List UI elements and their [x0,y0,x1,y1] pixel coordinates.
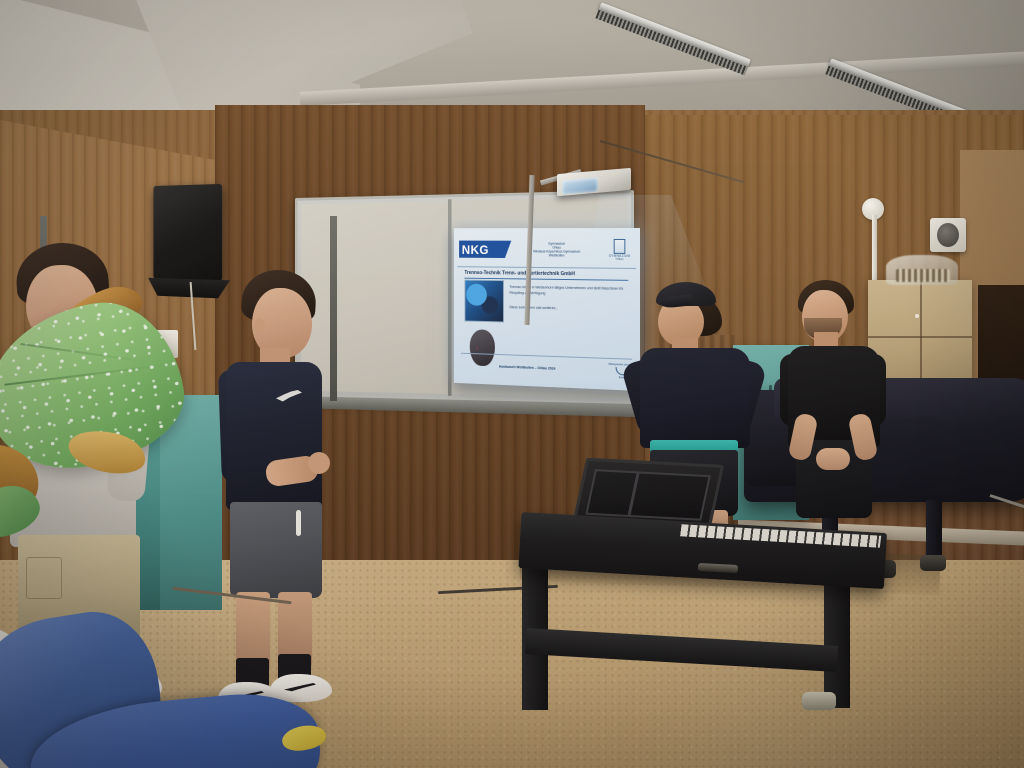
erasmus-line1: Mitbegründet durch [595,362,630,366]
keyboard-stand-caster [802,692,836,710]
person-navy-tshirt [212,270,342,700]
puma-logo-icon [276,390,302,402]
gymnasium-badge: GYMNAZIUM Ohlau [603,239,636,262]
chair-seat-group[interactable] [0,690,320,768]
baseball-cap [656,282,716,306]
person-cap-sweatshirt [640,348,750,448]
digital-piano [508,452,900,702]
white-wall-speaker [930,218,966,252]
speaker-cone-icon [937,223,959,247]
projected-slide: NKG Gymnasium Ohlau Nikolaus-Kopernikus-… [454,228,640,391]
keyboard-stand-brace [525,628,838,672]
shorts-drawstring [296,510,301,536]
keyboard-stand-leg-right [824,578,850,708]
slide-image-recycling [464,280,504,323]
gymnasium-badge-icon [614,239,626,254]
stacked-items [896,269,950,282]
classroom-scene: NKG Gymnasium Ohlau Nikolaus-Kopernikus-… [0,0,1024,768]
person-mid-tshirt [226,362,322,510]
whiteboard-hinge [448,199,452,396]
school-name-block: Gymnasium Ohlau Nikolaus-Kopernikus-Gymn… [511,241,603,258]
person-mid-shorts [230,502,322,598]
projector [551,165,635,195]
gymnasium-badge-line2: Ohlau [603,258,636,262]
slide-content: NKG Gymnasium Ohlau Nikolaus-Kopernikus-… [457,232,636,387]
cargo-pocket [26,557,62,599]
person-mid-ear [254,318,265,333]
cabinet-knob[interactable] [915,314,919,318]
slide-footer-text: Austausch Weißkollen – Ohlau 2024 [461,363,596,372]
slide-footer: Austausch Weißkollen – Ohlau 2024 Mitbeg… [461,353,632,384]
keyboard-body [518,512,887,589]
grand-piano-caster-mid [920,555,946,571]
piano-keys[interactable] [680,524,881,547]
slide-header: NKG Gymnasium Ohlau Nikolaus-Kopernikus-… [457,232,636,269]
grand-piano-leg-mid [926,500,942,558]
slide-title: Trennso-Technik Trenn- und Sortiertechni… [464,270,628,280]
person-left-ear [86,299,99,316]
chair-seat [26,688,324,768]
cabinet-top-plastic-bag [886,255,958,285]
music-rest-slot [585,469,711,521]
object-marking-icon: ● [476,346,479,351]
person-mid-hand [308,452,330,474]
nkg-logo-text: NKG [459,242,489,256]
nkg-logo: NKG [459,241,511,258]
